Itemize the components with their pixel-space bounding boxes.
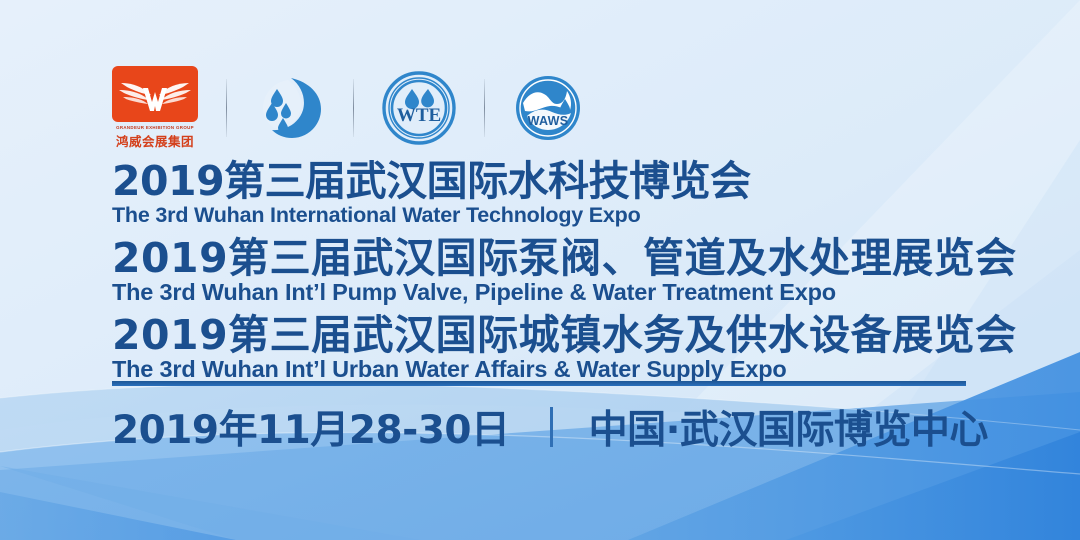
event-venue: 中国·武汉国际博览中心 — [589, 399, 988, 455]
title-row-water-technology-expo: 2019第三届武汉国际水科技博览会 The 3rd Wuhan Internat… — [112, 160, 972, 228]
title-english: The 3rd Wuhan Int’l Pump Valve, Pipeline… — [112, 280, 972, 305]
title-chinese: 2019第三届武汉国际城镇水务及供水设备展览会 — [112, 314, 972, 357]
logo-strip: GRANDEUR EXHIBITION GROUP 鸿威会展集团 — [112, 62, 583, 154]
footer-separator — [550, 407, 553, 447]
grandeur-english-label: GRANDEUR EXHIBITION GROUP — [116, 125, 194, 130]
title-english: The 3rd Wuhan Int’l Urban Water Affairs … — [112, 357, 972, 382]
logo-divider — [226, 79, 227, 137]
title-row-pump-valve-expo: 2019第三届武汉国际泵阀、管道及水处理展览会 The 3rd Wuhan In… — [112, 237, 972, 306]
droplet-circle-icon — [255, 73, 325, 143]
logo-divider — [353, 79, 354, 137]
event-banner: GRANDEUR EXHIBITION GROUP 鸿威会展集团 — [0, 0, 1080, 540]
title-chinese: 2019第三届武汉国际水科技博览会 — [112, 160, 972, 203]
wte-label: WTE — [397, 105, 441, 126]
logo-grandeur-exhibition-group: GRANDEUR EXHIBITION GROUP 鸿威会展集团 — [112, 66, 198, 150]
grandeur-chinese-label: 鸿威会展集团 — [116, 131, 194, 150]
title-chinese: 2019第三届武汉国际泵阀、管道及水处理展览会 — [112, 237, 972, 280]
waws-label: WAWS — [528, 114, 569, 128]
title-divider — [112, 381, 966, 386]
logo-waws: WAWS — [513, 73, 583, 143]
wte-circle-icon: WTE — [382, 71, 456, 145]
title-block: 2019第三届武汉国际水科技博览会 The 3rd Wuhan Internat… — [112, 160, 972, 388]
event-date: 2019年11月28-30日 — [112, 399, 510, 455]
logo-wte: WTE — [382, 71, 456, 145]
logo-divider — [484, 79, 485, 137]
waws-circle-icon: WAWS — [513, 73, 583, 143]
title-row-urban-water-affairs-expo: 2019第三届武汉国际城镇水务及供水设备展览会 The 3rd Wuhan In… — [112, 314, 972, 383]
event-footer: 2019年11月28-30日 中国·武汉国际博览中心 — [112, 398, 980, 456]
logo-water-droplet-circle — [255, 73, 325, 143]
title-english: The 3rd Wuhan International Water Techno… — [112, 204, 972, 227]
grandeur-w-wing-icon — [112, 66, 198, 122]
w-wing-mark-icon — [117, 71, 193, 117]
